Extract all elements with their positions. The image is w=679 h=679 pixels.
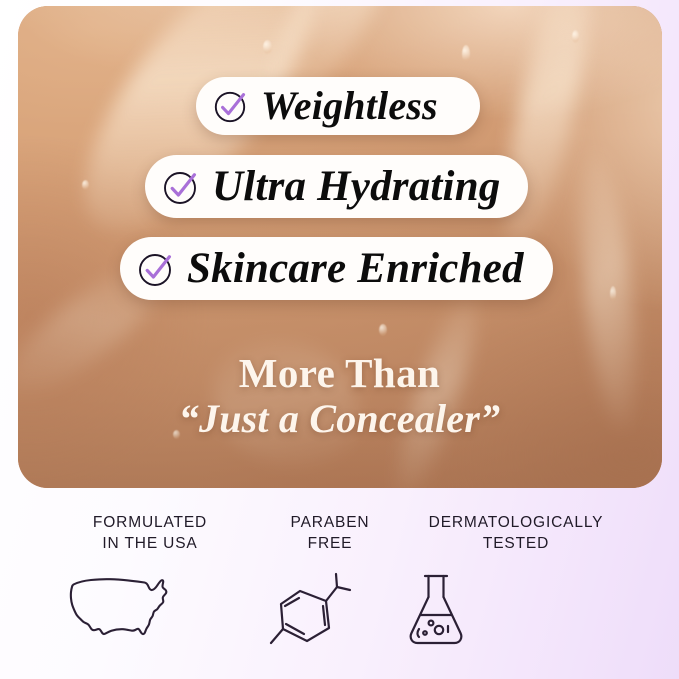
- check-circle-icon: [161, 167, 201, 207]
- feature-label: FORMULATED IN THE USA: [60, 512, 240, 555]
- headline-line-1: More Than: [0, 352, 679, 395]
- benefit-pill-weightless[interactable]: Weightless: [196, 77, 480, 135]
- feature-label: PARABEN FREE: [268, 512, 392, 555]
- feature-dermatologically-tested: DERMATOLOGICALLY TESTED: [404, 512, 628, 649]
- feature-label: DERMATOLOGICALLY TESTED: [404, 512, 628, 555]
- check-circle-icon: [212, 87, 250, 125]
- flask-icon: [404, 571, 628, 649]
- hero-headline: More Than “Just a Concealer”: [0, 352, 679, 442]
- usa-map-icon: [60, 571, 240, 647]
- feature-paraben-free: PARABEN FREE: [268, 512, 392, 653]
- molecule-icon: [268, 571, 392, 653]
- feature-formulated-in-the-usa: FORMULATED IN THE USA: [60, 512, 240, 647]
- feature-badge-row: FORMULATED IN THE USA PARABEN FREE: [0, 512, 679, 672]
- headline-line-2: “Just a Concealer”: [0, 397, 679, 442]
- check-circle-icon: [136, 249, 176, 289]
- benefit-pill-label: Weightless: [261, 86, 438, 126]
- benefit-pill-skincare-enriched[interactable]: Skincare Enriched: [120, 237, 553, 300]
- benefit-pill-label: Ultra Hydrating: [212, 165, 501, 208]
- benefit-pill-label: Skincare Enriched: [187, 247, 524, 290]
- page-background: Weightless Ultra Hydrating Skincare Enri…: [0, 0, 679, 679]
- benefit-pill-ultra-hydrating[interactable]: Ultra Hydrating: [145, 155, 528, 218]
